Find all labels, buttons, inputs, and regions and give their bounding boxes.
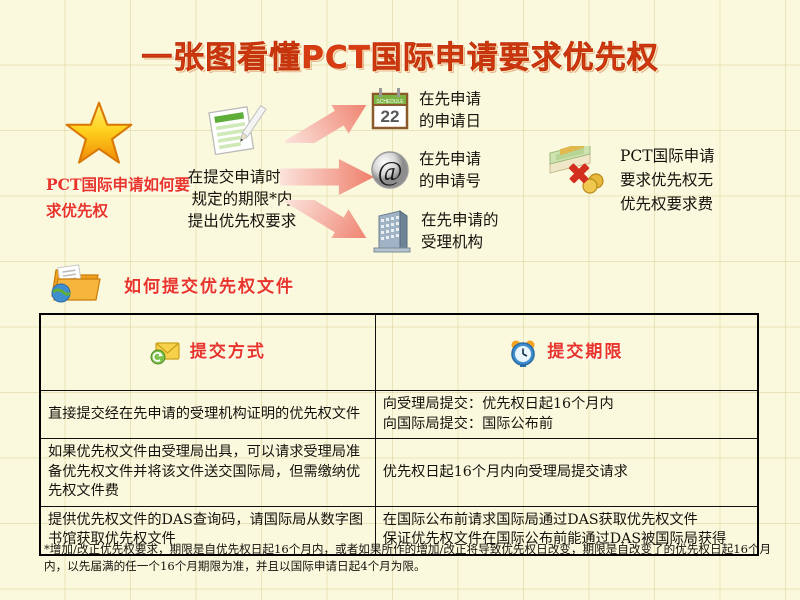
- no-priority-fee-note: PCT国际申请 要求优先权无 优先权要求费: [620, 144, 796, 216]
- calendar-icon: 22 SCHEDULE: [370, 88, 410, 132]
- row-method: 如果优先权文件由受理局出具，可以请求受理局准备优先权文件并将该文件送交国际局，但…: [40, 439, 375, 507]
- list-item-label: 在先申请的 受理机构: [421, 209, 499, 253]
- office-building-icon: [370, 208, 412, 254]
- priority-document-table: 提交方式 提交期限 直接提交经在先申请的受理机构证明: [39, 313, 759, 556]
- section-heading-submit-priority-doc: 如何提交优先权文件: [124, 272, 295, 297]
- table-header-method: 提交方式: [40, 314, 375, 391]
- page-title: 一张图看懂PCT国际申请要求优先权: [0, 32, 800, 77]
- svg-text:22: 22: [381, 107, 400, 126]
- star-icon: [58, 100, 140, 166]
- arrow-down-right-icon: [282, 200, 377, 238]
- folder-globe-icon: [46, 262, 102, 304]
- table-header-deadline-label: 提交期限: [547, 343, 623, 363]
- svg-text:SCHEDULE: SCHEDULE: [376, 99, 404, 105]
- row-deadline: 向受理局提交：优先权日起16个月内 向国际局提交：国际公布前: [375, 391, 758, 439]
- document-pencil-icon: [203, 103, 267, 159]
- table-header-deadline: 提交期限: [375, 314, 758, 391]
- alarm-clock-icon: [509, 339, 537, 367]
- row-method: 直接提交经在先申请的受理机构证明的优先权文件: [40, 391, 375, 439]
- list-item-label: 在先申请 的申请号: [419, 148, 481, 192]
- list-item: 在先申请的 受理机构: [370, 208, 499, 254]
- money-no-fee-icon: [546, 146, 608, 194]
- envelope-reply-icon: [150, 340, 180, 366]
- at-sign-icon: @: [370, 148, 410, 192]
- row-deadline: 优先权日起16个月内向受理局提交请求: [375, 439, 758, 507]
- list-item: 22 SCHEDULE 在先申请 的申请日: [370, 88, 481, 132]
- footnote: *增加/改正优先权要求，期限是自优先权日起16个月内，或者如果所作的增加/改正将…: [44, 541, 774, 575]
- list-item: @ 在先申请 的申请号: [370, 148, 481, 192]
- table-header-method-label: 提交方式: [190, 343, 266, 363]
- slide-canvas: 一张图看懂PCT国际申请要求优先权 PCT国际申请如何要求优先权: [0, 0, 800, 600]
- priority-claim-question-label: PCT国际申请如何要求优先权: [46, 172, 196, 224]
- table-row: 如果优先权文件由受理局出具，可以请求受理局准备优先权文件并将该文件送交国际局，但…: [40, 439, 758, 507]
- table-row: 直接提交经在先申请的受理机构证明的优先权文件 向受理局提交：优先权日起16个月内…: [40, 391, 758, 439]
- arrow-up-right-icon: [282, 105, 377, 143]
- table-header-row: 提交方式 提交期限: [40, 314, 758, 391]
- svg-text:@: @: [378, 156, 403, 186]
- arrow-right-icon: [280, 158, 375, 196]
- list-item-label: 在先申请 的申请日: [419, 88, 481, 132]
